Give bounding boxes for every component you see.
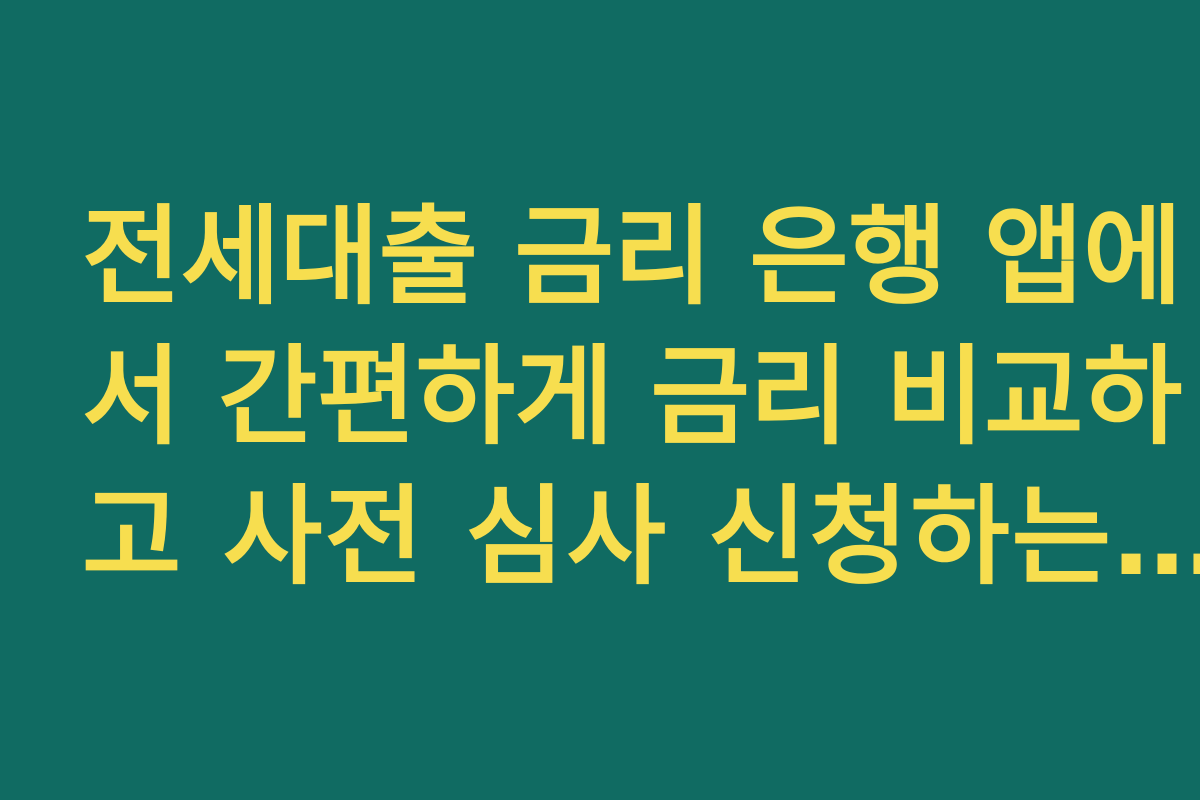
headline-block: 전세대출 금리 은행 앱에 서 간편하게 금리 비교하 고 사전 심사 신청하는… [0,188,1200,608]
thumbnail-card: 전세대출 금리 은행 앱에 서 간편하게 금리 비교하 고 사전 심사 신청하는… [0,0,1200,800]
headline-line-2: 서 간편하게 금리 비교하 [82,328,1140,468]
headline-line-1: 전세대출 금리 은행 앱에 [82,188,1140,328]
headline-line-3: 고 사전 심사 신청하는… [82,468,1140,608]
